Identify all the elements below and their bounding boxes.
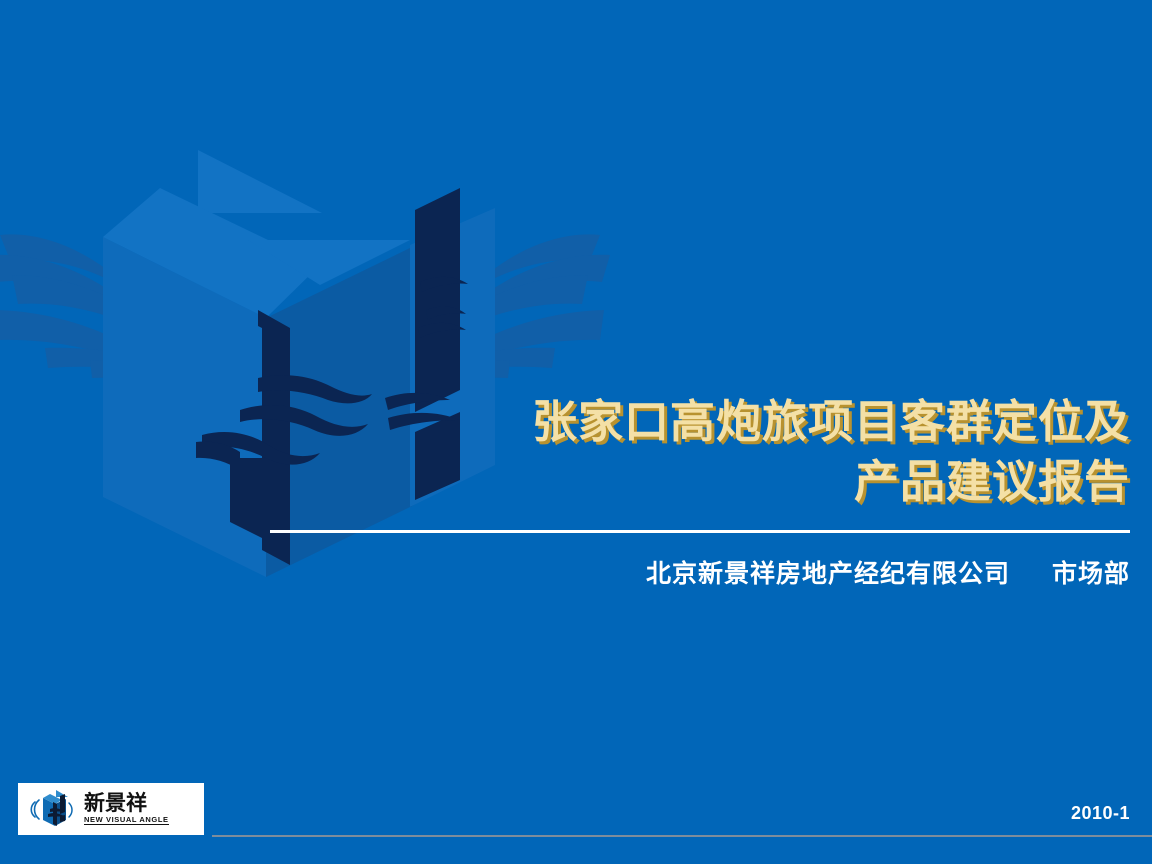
logo-chinese-name: 新景祥	[84, 793, 147, 814]
subtitle-company: 北京新景祥房地产经纪有限公司	[646, 560, 1010, 588]
company-logo-mark-icon	[26, 788, 82, 830]
company-logo-box: 新景祥 NEW VISUAL ANGLE	[18, 783, 204, 835]
cube-left-face	[103, 237, 266, 577]
swoosh-right-group	[378, 234, 610, 390]
background-watermark-graphic	[0, 60, 610, 620]
title-line-1: 张家口高炮旅项目客群定位及	[390, 392, 1130, 452]
cube-back-face	[266, 248, 410, 577]
footer-divider-rule	[212, 835, 1152, 837]
slide-title: 张家口高炮旅项目客群定位及 产品建议报告	[390, 392, 1130, 512]
cube-flag	[198, 150, 322, 213]
subtitle-department: 市场部	[1052, 560, 1130, 588]
swoosh-left-group	[0, 234, 222, 400]
title-line-2: 产品建议报告	[390, 452, 1130, 512]
cube-top-left-face	[103, 188, 320, 318]
title-divider-rule	[270, 530, 1130, 533]
slide-date: 2010-1	[1071, 803, 1130, 824]
cube-inner-top	[248, 240, 410, 285]
company-logo-wordmark: 新景祥 NEW VISUAL ANGLE	[84, 793, 169, 826]
swoosh-accent	[195, 359, 252, 367]
logo-english-name: NEW VISUAL ANGLE	[84, 816, 169, 826]
presentation-slide: 张家口高炮旅项目客群定位及 产品建议报告 北京新景祥房地产经纪有限公司市场部	[0, 0, 1152, 864]
slide-subtitle: 北京新景祥房地产经纪有限公司市场部	[390, 554, 1130, 590]
